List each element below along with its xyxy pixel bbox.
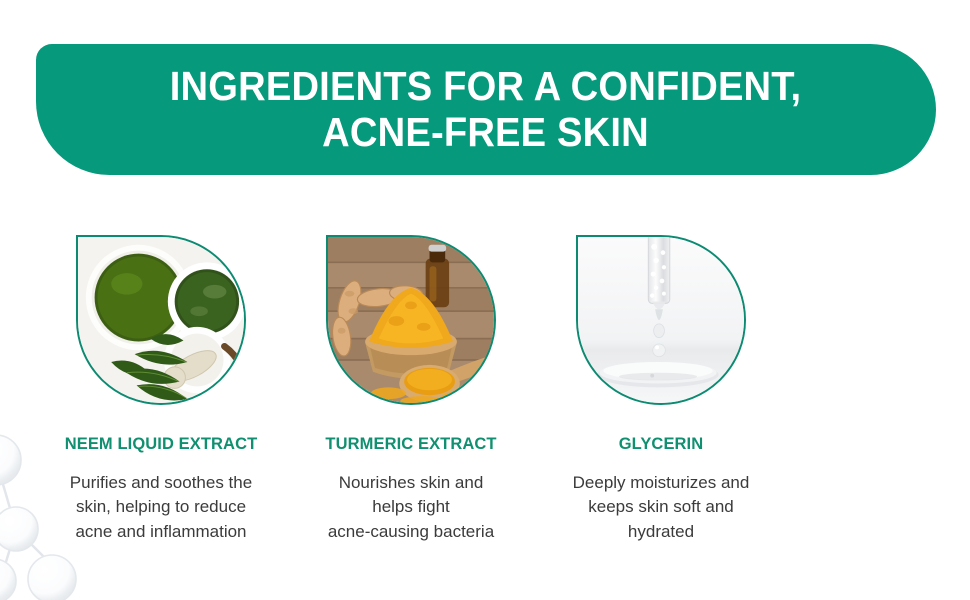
infographic-page: INGREDIENTS FOR A CONFIDENT, ACNE-FREE S…: [0, 0, 970, 600]
ingredient-description-glycerin: Deeply moisturizes and keeps skin soft a…: [546, 471, 776, 544]
page-title: INGREDIENTS FOR A CONFIDENT, ACNE-FREE S…: [133, 64, 839, 156]
ingredient-image-neem: [76, 235, 246, 405]
ingredient-description-turmeric: Nourishes skin and helps fight acne-caus…: [296, 471, 526, 544]
ingredient-image-glycerin: [576, 235, 746, 405]
header-banner: INGREDIENTS FOR A CONFIDENT, ACNE-FREE S…: [36, 44, 936, 175]
ingredients-row: NEEM LIQUID EXTRACT Purifies and soothes…: [36, 235, 936, 544]
ingredient-description-neem: Purifies and soothes the skin, helping t…: [46, 471, 276, 544]
ingredient-title-glycerin: GLYCERIN: [619, 435, 704, 454]
ingredient-card-turmeric: TURMERIC EXTRACT Nourishes skin and help…: [286, 235, 536, 544]
ingredient-title-neem: NEEM LIQUID EXTRACT: [65, 435, 258, 454]
ingredient-card-glycerin: GLYCERIN Deeply moisturizes and keeps sk…: [536, 235, 786, 544]
ingredient-card-neem: NEEM LIQUID EXTRACT Purifies and soothes…: [36, 235, 286, 544]
ingredient-image-turmeric: [326, 235, 496, 405]
ingredient-title-turmeric: TURMERIC EXTRACT: [325, 435, 496, 454]
